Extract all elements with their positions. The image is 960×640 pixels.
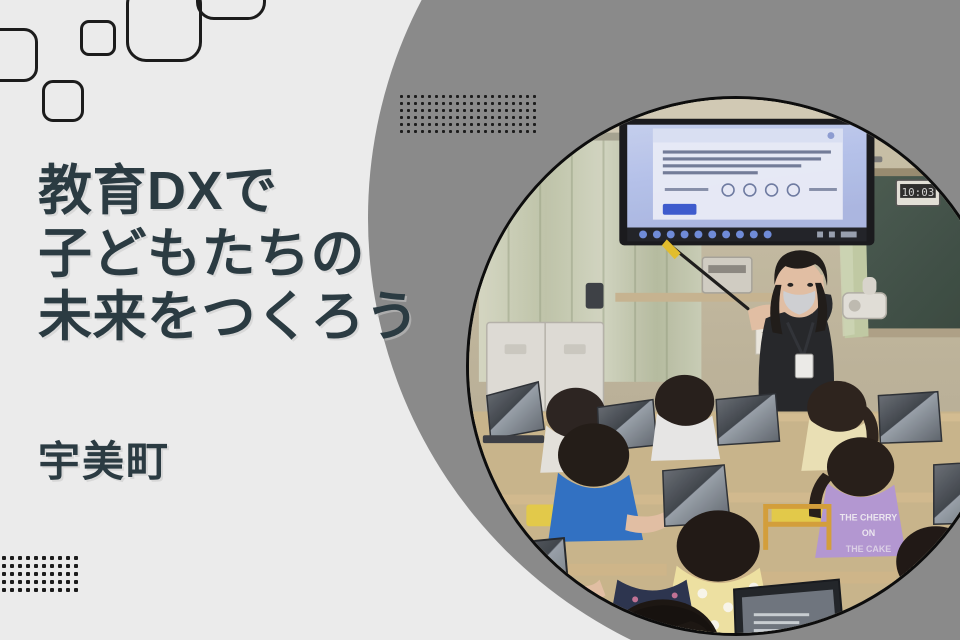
rounded-square-outline: [42, 80, 84, 122]
grid-dot: [421, 102, 424, 105]
grid-dot: [18, 556, 22, 560]
grid-dot: [414, 130, 417, 133]
grid-dot: [50, 580, 54, 584]
grid-dot: [66, 572, 70, 576]
grid-dot: [26, 556, 30, 560]
grid-dot: [400, 116, 403, 119]
grid-dot: [456, 95, 459, 98]
grid-dot: [42, 564, 46, 568]
grid-dot: [498, 95, 501, 98]
grid-dot: [463, 130, 466, 133]
grid-dot: [18, 572, 22, 576]
grid-dot: [463, 123, 466, 126]
grid-dot: [442, 109, 445, 112]
rounded-square-outline: [196, 0, 266, 20]
grid-dot: [505, 95, 508, 98]
grid-dot: [456, 116, 459, 119]
grid-dot: [428, 116, 431, 119]
rounded-square-outline: [126, 0, 202, 62]
headline-line-1: 教育DXで: [38, 160, 468, 223]
headline-block: 教育DXで 子どもたちの 未来をつくろう: [38, 160, 468, 350]
grid-dot: [74, 556, 78, 560]
grid-dot: [484, 95, 487, 98]
grid-dot: [2, 572, 6, 576]
dot-grid-bottom: [0, 556, 82, 596]
grid-dot: [449, 116, 452, 119]
rounded-square-outline: [80, 20, 116, 56]
classroom-photo-illustration: 10:03: [469, 99, 960, 633]
grid-dot: [407, 116, 410, 119]
grid-dot: [26, 564, 30, 568]
grid-dot: [42, 580, 46, 584]
grid-dot: [463, 109, 466, 112]
grid-dot: [512, 95, 515, 98]
grid-dot: [421, 109, 424, 112]
grid-dot: [10, 580, 14, 584]
classroom-photo-circle: 10:03: [466, 96, 960, 636]
grid-dot: [442, 130, 445, 133]
grid-dot: [18, 580, 22, 584]
grid-dot: [400, 109, 403, 112]
grid-dot: [50, 556, 54, 560]
grid-dot: [407, 102, 410, 105]
poster-canvas: 10:03: [0, 0, 960, 640]
grid-dot: [435, 102, 438, 105]
grid-dot: [74, 564, 78, 568]
grid-dot: [414, 109, 417, 112]
grid-dot: [428, 109, 431, 112]
grid-dot: [58, 572, 62, 576]
grid-dot: [519, 95, 522, 98]
grid-dot: [26, 588, 30, 592]
grid-dot: [34, 572, 38, 576]
grid-dot: [400, 95, 403, 98]
grid-dot: [442, 95, 445, 98]
grid-dot: [74, 588, 78, 592]
grid-dot: [58, 556, 62, 560]
grid-dot: [400, 130, 403, 133]
grid-dot: [58, 588, 62, 592]
grid-dot: [491, 95, 494, 98]
grid-dot: [42, 572, 46, 576]
grid-dot: [421, 123, 424, 126]
grid-dot: [26, 572, 30, 576]
grid-dot: [66, 580, 70, 584]
grid-dot: [407, 123, 410, 126]
grid-dot: [421, 95, 424, 98]
grid-dot: [10, 556, 14, 560]
grid-dot: [26, 580, 30, 584]
grid-dot: [442, 116, 445, 119]
grid-dot: [456, 109, 459, 112]
grid-dot: [400, 123, 403, 126]
grid-dot: [449, 109, 452, 112]
subtitle-municipality: 宇美町: [38, 428, 170, 489]
grid-dot: [435, 116, 438, 119]
grid-dot: [477, 95, 480, 98]
grid-dot: [10, 572, 14, 576]
grid-dot: [428, 102, 431, 105]
grid-dot: [463, 102, 466, 105]
grid-dot: [66, 556, 70, 560]
grid-dot: [463, 116, 466, 119]
grid-dot: [58, 564, 62, 568]
grid-dot: [18, 564, 22, 568]
grid-dot: [470, 95, 473, 98]
grid-dot: [2, 564, 6, 568]
grid-dot: [50, 572, 54, 576]
grid-dot: [428, 130, 431, 133]
headline-line-2: 子どもたちの: [38, 223, 468, 286]
grid-dot: [74, 580, 78, 584]
grid-dot: [42, 588, 46, 592]
grid-dot: [428, 123, 431, 126]
grid-dot: [34, 556, 38, 560]
grid-dot: [428, 95, 431, 98]
grid-dot: [74, 572, 78, 576]
grid-dot: [50, 588, 54, 592]
grid-dot: [10, 588, 14, 592]
headline-line-3: 未来をつくろう: [38, 286, 468, 349]
grid-dot: [442, 123, 445, 126]
grid-dot: [526, 95, 529, 98]
classroom-photo: 10:03: [469, 99, 960, 633]
grid-dot: [34, 564, 38, 568]
grid-dot: [435, 123, 438, 126]
grid-dot: [456, 123, 459, 126]
grid-dot: [435, 130, 438, 133]
grid-dot: [449, 95, 452, 98]
rounded-square-outline: [0, 28, 38, 82]
grid-dot: [66, 564, 70, 568]
grid-dot: [10, 564, 14, 568]
grid-dot: [2, 588, 6, 592]
grid-dot: [449, 130, 452, 133]
grid-dot: [407, 109, 410, 112]
grid-dot: [449, 102, 452, 105]
grid-dot: [34, 588, 38, 592]
grid-dot: [449, 123, 452, 126]
grid-dot: [442, 102, 445, 105]
grid-dot: [66, 588, 70, 592]
grid-dot: [456, 102, 459, 105]
grid-dot: [58, 580, 62, 584]
grid-dot: [2, 556, 6, 560]
grid-dot: [34, 580, 38, 584]
grid-dot: [435, 109, 438, 112]
grid-dot: [2, 580, 6, 584]
page-title: 教育DXで 子どもたちの 未来をつくろう: [38, 160, 468, 350]
grid-dot: [456, 130, 459, 133]
grid-dot: [407, 130, 410, 133]
grid-dot: [421, 116, 424, 119]
grid-dot: [414, 116, 417, 119]
grid-dot: [533, 95, 536, 98]
grid-dot: [463, 95, 466, 98]
grid-dot: [414, 123, 417, 126]
grid-dot: [407, 95, 410, 98]
grid-dot: [435, 95, 438, 98]
grid-dot: [400, 102, 403, 105]
grid-dot: [42, 556, 46, 560]
grid-dot: [414, 95, 417, 98]
grid-dot: [421, 130, 424, 133]
grid-dot: [50, 564, 54, 568]
grid-dot: [18, 588, 22, 592]
grid-dot: [414, 102, 417, 105]
